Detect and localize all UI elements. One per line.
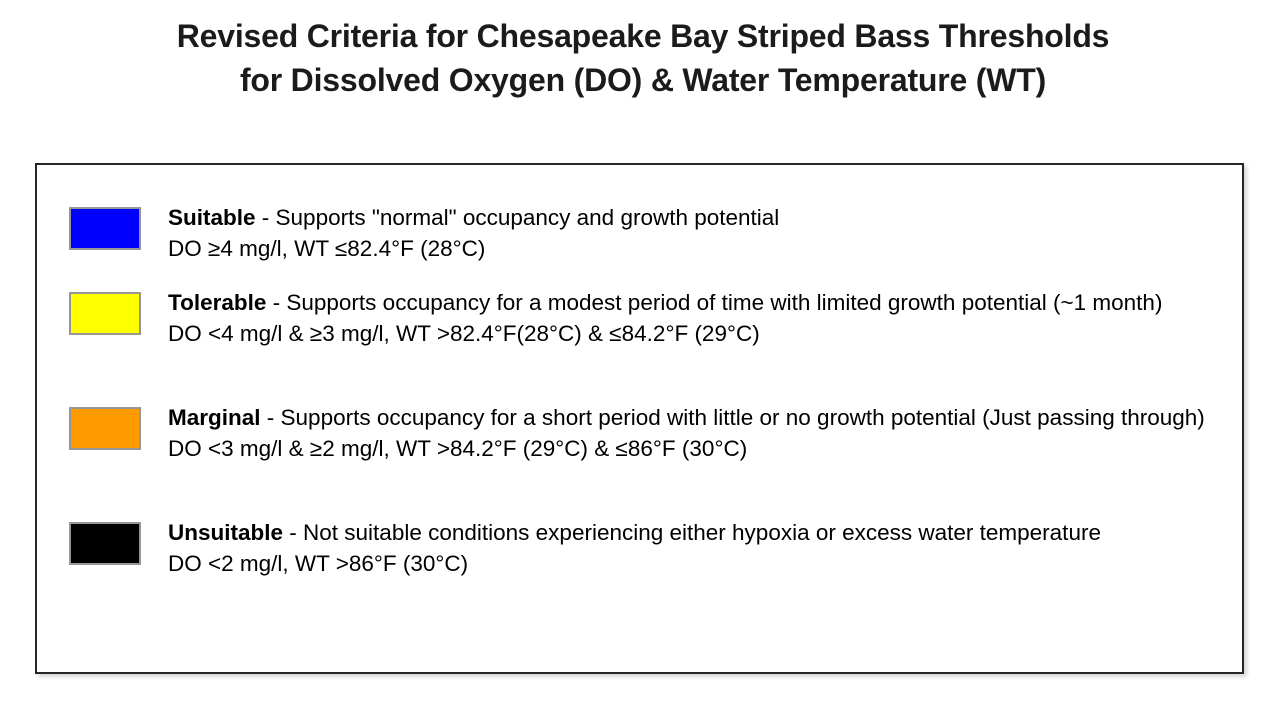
legend-separator-tolerable: - <box>266 290 286 315</box>
legend-desc-tolerable: Supports occupancy for a modest period o… <box>286 290 1162 315</box>
marginal-color-swatch <box>69 407 141 450</box>
legend-criteria-tolerable: DO <4 mg/l & ≥3 mg/l, WT >82.4°F(28°C) &… <box>168 318 1226 349</box>
suitable-color-swatch <box>69 207 141 250</box>
legend-text-suitable: Suitable - Supports "normal" occupancy a… <box>168 202 1226 264</box>
unsuitable-color-swatch <box>69 522 141 565</box>
legend-description-unsuitable: Unsuitable - Not suitable conditions exp… <box>168 517 1226 548</box>
legend-desc-marginal: Supports occupancy for a short period wi… <box>281 405 1205 430</box>
legend-description-marginal: Marginal - Supports occupancy for a shor… <box>168 402 1226 433</box>
tolerable-color-swatch <box>69 292 141 335</box>
legend-criteria-marginal: DO <3 mg/l & ≥2 mg/l, WT >84.2°F (29°C) … <box>168 433 1226 464</box>
legend-term-tolerable: Tolerable <box>168 290 266 315</box>
page-title-line-2: for Dissolved Oxygen (DO) & Water Temper… <box>0 58 1286 102</box>
legend-text-marginal: Marginal - Supports occupancy for a shor… <box>168 402 1226 464</box>
legend-criteria-unsuitable: DO <2 mg/l, WT >86°F (30°C) <box>168 548 1226 579</box>
legend-separator-suitable: - <box>256 205 276 230</box>
legend-term-marginal: Marginal <box>168 405 261 430</box>
legend-term-unsuitable: Unsuitable <box>168 520 283 545</box>
legend-separator-marginal: - <box>261 405 281 430</box>
criteria-legend-panel: Suitable - Supports "normal" occupancy a… <box>35 163 1244 674</box>
legend-criteria-suitable: DO ≥4 mg/l, WT ≤82.4°F (28°C) <box>168 233 1226 264</box>
legend-term-suitable: Suitable <box>168 205 256 230</box>
legend-text-unsuitable: Unsuitable - Not suitable conditions exp… <box>168 517 1226 579</box>
legend-desc-suitable: Supports "normal" occupancy and growth p… <box>276 205 780 230</box>
page-title-line-1: Revised Criteria for Chesapeake Bay Stri… <box>0 14 1286 58</box>
page-title: Revised Criteria for Chesapeake Bay Stri… <box>0 14 1286 102</box>
legend-description-tolerable: Tolerable - Supports occupancy for a mod… <box>168 287 1226 318</box>
legend-description-suitable: Suitable - Supports "normal" occupancy a… <box>168 202 1226 233</box>
legend-separator-unsuitable: - <box>283 520 303 545</box>
legend-text-tolerable: Tolerable - Supports occupancy for a mod… <box>168 287 1226 349</box>
legend-desc-unsuitable: Not suitable conditions experiencing eit… <box>303 520 1101 545</box>
